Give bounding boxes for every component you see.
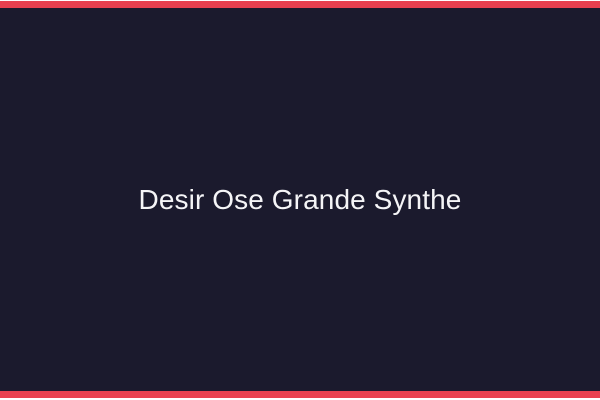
page-title: Desir Ose Grande Synthe	[115, 183, 486, 217]
title-panel: Desir Ose Grande Synthe	[0, 8, 600, 391]
bottom-accent-bar	[0, 391, 600, 398]
top-accent-bar	[0, 1, 600, 8]
title-card: Desir Ose Grande Synthe	[0, 0, 600, 400]
